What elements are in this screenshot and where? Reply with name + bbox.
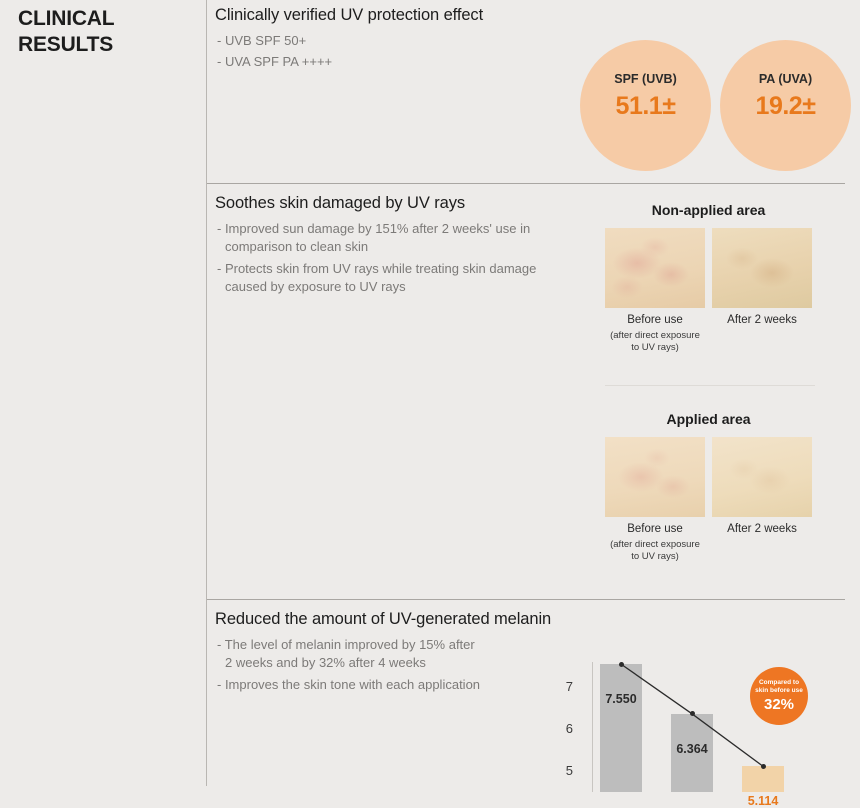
bullet-item: - Protects skin from UV rays while treat… [217,260,536,297]
skin-caption-after: After 2 weeks [712,523,812,535]
skin-caption-before: Before use [605,523,705,535]
bullet-item: - Improves the skin tone with each appli… [217,676,480,694]
section-2-heading: Soothes skin damaged by UV rays [215,194,465,213]
pa-uva-label: PA (UVA) [720,72,851,86]
pa-uva-circle: PA (UVA) 19.2± [720,40,851,171]
content-column: Clinically verified UV protection effect… [207,0,860,786]
skin-group-title: Non-applied area [605,202,812,218]
skin-swatch-after-non-applied [712,228,812,308]
skin-swatch-before-applied [605,437,705,517]
chart-line-marker [761,764,766,769]
section-3-heading: Reduced the amount of UV-generated melan… [215,610,551,629]
skin-caption-after: After 2 weeks [712,314,812,326]
compare-badge-value: 32% [750,696,808,713]
skin-group-title: Applied area [605,411,812,427]
pa-uva-value: 19.2± [720,92,851,121]
skin-caption-before: Before use [605,314,705,326]
spf-uvb-label: SPF (UVB) [580,72,711,86]
bullet-item: - UVA SPF PA ++++ [217,53,332,71]
skin-group-applied: Applied area Before use (after direct ex… [605,411,812,571]
page-title: CLINICAL RESULTS [18,6,188,57]
section-1-heading: Clinically verified UV protection effect [215,6,483,25]
section-1-bullets: - UVB SPF 50+ - UVA SPF PA ++++ [217,32,332,75]
skin-caption-before-sub: (after direct exposure to UV rays) [595,539,715,563]
chart-line-marker [619,662,624,667]
bullet-item: - UVB SPF 50+ [217,32,332,50]
section-uv-protection: Clinically verified UV protection effect… [207,0,860,183]
skin-group-non-applied: Non-applied area Before use (after direc… [605,202,812,362]
section-melanin: Reduced the amount of UV-generated melan… [207,600,860,786]
section-2-bullets: - Improved sun damage by 151% after 2 we… [217,220,536,300]
chart-trend-line [560,662,860,792]
skin-caption-before-sub: (after direct exposure to UV rays) [595,330,715,354]
skin-swatch-after-applied [712,437,812,517]
compare-badge: Compared to skin before use 32% [750,667,808,725]
skin-swatch-before-non-applied [605,228,705,308]
bullet-item: - The level of melanin improved by 15% a… [217,636,480,673]
compare-badge-caption: Compared to skin before use [752,679,806,695]
bullet-item: - Improved sun damage by 151% after 2 we… [217,220,536,257]
chart-line-marker [690,711,695,716]
spf-uvb-value: 51.1± [580,92,711,121]
melanin-bar-chart: 765 7.5506.3645.114 Compared to skin bef… [560,662,860,792]
section-soothes-skin: Soothes skin damaged by UV rays - Improv… [207,184,860,599]
skin-groups-divider [605,385,815,386]
chart-bar-value: 5.114 [742,794,784,808]
spf-uvb-circle: SPF (UVB) 51.1± [580,40,711,171]
section-3-bullets: - The level of melanin improved by 15% a… [217,636,480,697]
